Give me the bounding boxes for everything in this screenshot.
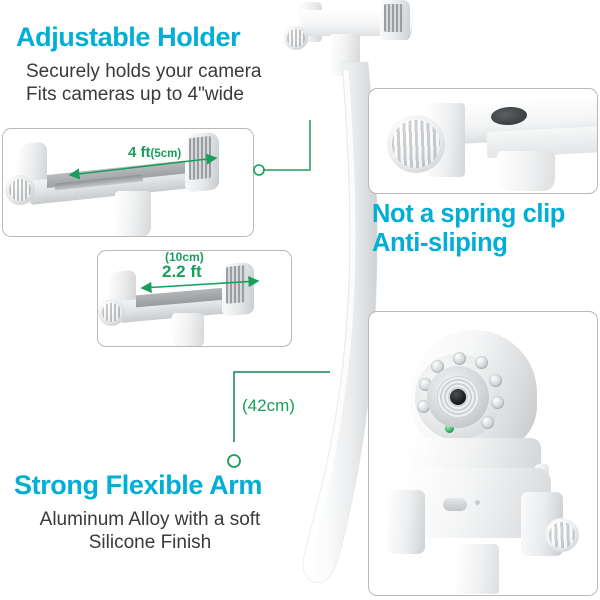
clamp-tightening-knob [98, 299, 125, 326]
clamp-neck [115, 191, 151, 237]
panel-knob-closeup [368, 88, 598, 194]
subtext-strong-flexible-arm: Aluminum Alloy with a soft Silicone Fini… [30, 508, 270, 554]
ir-led [453, 352, 466, 365]
panel-camera-mounted [368, 311, 598, 596]
dimension-metric-wide: (5cm) [151, 148, 182, 160]
clamp-rubber-grip [226, 265, 246, 304]
leader-endpoint-bottom-icon [228, 455, 240, 467]
headline-adjustable-holder: Adjustable Holder [16, 24, 240, 52]
dimension-imperial-narrow: 2.2 ft [162, 262, 202, 282]
dimension-label-wide: 4 ft(5cm) [128, 144, 181, 161]
headline-not-a-spring-clip: Not a spring clip Anti-sliping [372, 200, 565, 257]
clamp-tightening-knob [387, 115, 445, 173]
clamp-neck [172, 313, 204, 347]
headline-strong-flexible-arm: Strong Flexible Arm [14, 472, 262, 500]
arm-body [303, 62, 377, 583]
subtext-adjustable-holder: Securely holds your camera Fits cameras … [26, 60, 262, 106]
camera-switch [443, 498, 467, 511]
mount-left-jaw [387, 490, 425, 554]
mount-stem [455, 544, 499, 594]
infographic-canvas: Adjustable Holder Securely holds your ca… [0, 0, 600, 600]
clamp-rubber-grip [189, 136, 211, 180]
mount-tightening-knob [545, 518, 579, 552]
camera-indicator-dot [475, 500, 480, 505]
dimension-imperial-wide: 4 ft [128, 144, 151, 161]
ir-led [489, 374, 502, 387]
leader-endpoint-top-icon [254, 165, 264, 175]
clamp-neck-cone [497, 151, 555, 191]
knob-closeup-photo [369, 89, 597, 193]
ir-led [481, 416, 494, 429]
dimension-label-arm-length: (42cm) [242, 396, 295, 416]
ir-led [475, 356, 488, 369]
camera-photo [369, 312, 597, 595]
ir-led [491, 396, 504, 409]
lens-aperture [450, 389, 466, 405]
clamp-tightening-knob [5, 175, 35, 205]
